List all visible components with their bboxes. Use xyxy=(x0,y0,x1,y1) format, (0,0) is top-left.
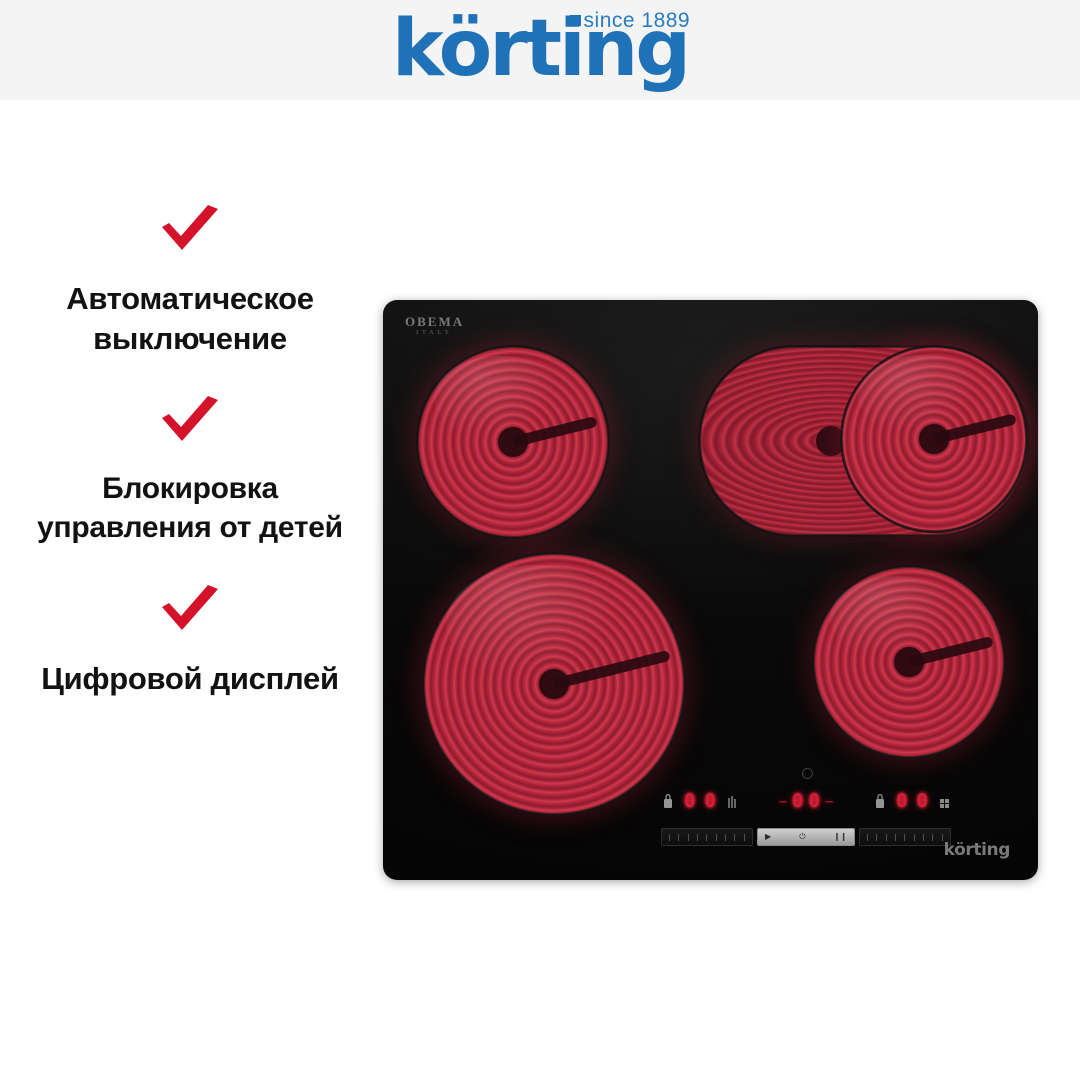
brand-logo: körting since 1889 xyxy=(392,14,688,86)
slider-tick xyxy=(895,834,896,841)
glass-ceramic-hob: OBEMA ITALY 0 0 xyxy=(383,300,1038,880)
slider-tick xyxy=(716,834,717,841)
power-icon[interactable]: ⏻ xyxy=(799,833,805,841)
slider-tick xyxy=(678,834,679,841)
brand-logo-wrap: körting since 1889 xyxy=(0,0,1080,100)
slider-tick xyxy=(876,834,877,841)
check-icon xyxy=(158,396,222,448)
feature-item-auto-shutoff: Автоматическое выключение xyxy=(0,205,380,358)
control-panel[interactable]: 0 0 – 0 0 – 0 0 xyxy=(661,774,951,852)
timer-display[interactable]: – 0 0 – xyxy=(779,792,834,811)
hob-top-marking-sub: ITALY xyxy=(405,330,464,338)
front-left-zone[interactable] xyxy=(425,555,683,813)
check-icon xyxy=(158,585,222,637)
zone-hub xyxy=(894,647,924,677)
residual-heat-icon xyxy=(937,791,951,811)
child-lock-icon xyxy=(873,791,887,811)
feature-list: Автоматическое выключение Блокировка упр… xyxy=(0,205,380,737)
square-icon xyxy=(570,15,581,26)
rear-left-zone[interactable] xyxy=(419,348,607,536)
brand-since-tagline: since 1889 xyxy=(570,10,691,31)
right-touch-slider[interactable] xyxy=(859,828,951,846)
feature-item-digital-display: Цифровой дисплей xyxy=(0,585,380,699)
center-control-slider[interactable]: ▶ ⏻ ❙❙ xyxy=(757,828,855,846)
zone-hub xyxy=(816,426,846,456)
pause-icon[interactable]: ❙❙ xyxy=(834,833,847,841)
check-icon xyxy=(158,205,222,257)
slider-tick xyxy=(914,834,915,841)
watermark: hausdorf.ru xyxy=(1075,610,1080,813)
feature-label: Цифровой дисплей xyxy=(0,659,380,699)
hob-top-marking-text: OBEMA xyxy=(405,314,464,329)
left-touch-slider[interactable] xyxy=(661,828,753,846)
slider-tick xyxy=(734,834,735,841)
slider-tick xyxy=(725,834,726,841)
left-zone-controls[interactable]: 0 0 xyxy=(661,791,739,811)
hob-top-marking: OBEMA ITALY xyxy=(405,314,464,338)
play-icon[interactable]: ▶ xyxy=(765,833,771,841)
feature-label: Блокировка управления от детей xyxy=(0,470,380,547)
header-band: körting since 1889 xyxy=(0,0,1080,100)
power-icon[interactable] xyxy=(802,768,813,779)
zone-connector-arm xyxy=(553,650,671,689)
left-zone-digit-1: 0 xyxy=(684,792,695,811)
slider-tick xyxy=(942,834,943,841)
slider-tick xyxy=(688,834,689,841)
slider-tick xyxy=(867,834,868,841)
slider-tick xyxy=(904,834,905,841)
timer-digit-2: 0 xyxy=(809,792,820,811)
slider-tick xyxy=(706,834,707,841)
rear-right-round-zone[interactable] xyxy=(843,348,1025,530)
zone-hub xyxy=(919,424,949,454)
feature-label: Автоматическое выключение xyxy=(0,279,380,358)
hob-brand-logo: körting xyxy=(944,840,1010,860)
zone-hub xyxy=(539,669,569,699)
timer-left-dash: – xyxy=(779,793,787,810)
left-zone-digit-2: 0 xyxy=(704,792,715,811)
touch-slider-row[interactable]: ▶ ⏻ ❙❙ xyxy=(661,828,951,846)
feature-item-child-lock: Блокировка управления от детей xyxy=(0,396,380,547)
watermark: hausdorf.ru xyxy=(1075,250,1080,453)
right-zone-digit-1: 0 xyxy=(896,792,907,811)
timer-digit-1: 0 xyxy=(792,792,803,811)
timer-right-dash: – xyxy=(825,793,833,810)
right-zone-digit-2: 0 xyxy=(917,792,928,811)
residual-heat-icon xyxy=(725,791,739,811)
slider-tick xyxy=(744,834,745,841)
right-zone-controls[interactable]: 0 0 xyxy=(873,791,951,811)
slider-tick xyxy=(932,834,933,841)
slider-tick xyxy=(669,834,670,841)
slider-tick xyxy=(697,834,698,841)
child-lock-icon xyxy=(661,791,675,811)
front-right-zone[interactable] xyxy=(815,568,1003,756)
brand-since-text: since 1889 xyxy=(584,9,691,32)
control-panel-display-row: 0 0 – 0 0 – 0 0 xyxy=(661,780,951,822)
slider-tick xyxy=(886,834,887,841)
slider-tick xyxy=(923,834,924,841)
zone-hub xyxy=(498,427,528,457)
